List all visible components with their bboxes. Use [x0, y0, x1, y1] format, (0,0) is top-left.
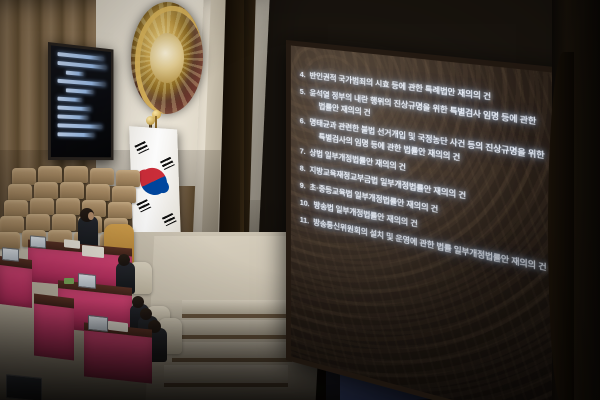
screen-text-line: [66, 71, 84, 76]
seat: [116, 170, 140, 187]
desk-monitor: [30, 235, 46, 248]
seat: [12, 168, 36, 185]
desk-monitor: [2, 247, 19, 262]
green-folder: [64, 278, 74, 284]
flag-pole-finial: [146, 116, 155, 125]
secondary-agenda-display: [48, 42, 113, 160]
document-paper: [82, 245, 104, 258]
seat: [90, 168, 114, 185]
emblem-core: [150, 33, 185, 83]
screen-text-line: [57, 106, 90, 112]
screen-text-line: [57, 61, 107, 70]
document-paper: [64, 239, 80, 249]
assembly-chamber-photo: 4.반인권적 국가범죄의 시효 등에 관한 특례법안 재의의 건5.윤석열 정부…: [0, 0, 600, 400]
official-head: [118, 254, 130, 266]
screen-text-line: [57, 97, 82, 102]
screen-text-line: [57, 79, 106, 87]
screen-text-line: [57, 123, 102, 128]
desk-monitor: [78, 273, 96, 289]
seat: [60, 182, 84, 199]
trigram-geon: [134, 141, 149, 154]
pillar-curved-edge: [548, 52, 574, 400]
seat: [86, 184, 110, 201]
official-face: [88, 212, 94, 220]
screen-text-line: [57, 52, 104, 61]
screen-text-line: [66, 88, 94, 94]
national-assembly-emblem: [131, 1, 203, 114]
seat: [8, 184, 32, 201]
screen-text-line: [57, 132, 94, 137]
screen-text-line: [57, 114, 88, 119]
seat: [34, 182, 58, 199]
seat: [64, 166, 88, 183]
main-agenda-display: 4.반인권적 국가범죄의 시효 등에 관한 특례법안 재의의 건5.윤석열 정부…: [286, 40, 558, 360]
screen-vignette: [291, 46, 589, 400]
seat: [38, 166, 62, 183]
